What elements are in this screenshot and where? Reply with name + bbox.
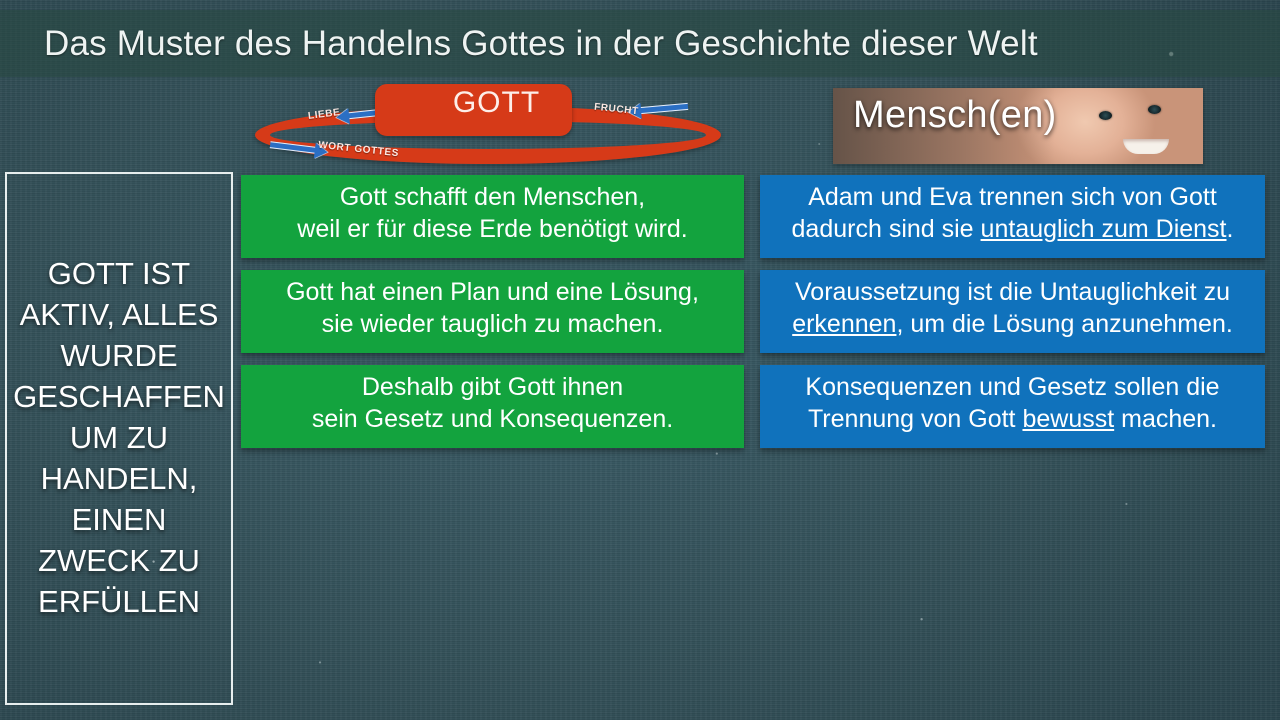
green-card-1-line-1: Gott schafft den Menschen, <box>251 181 734 213</box>
blue-card-1-emphasis: untauglich zum Dienst <box>981 215 1227 243</box>
left-statement-text: GOTT IST AKTIV, ALLES WURDE GESCHAFFEN U… <box>13 254 225 622</box>
slide-title-bar: Das Muster des Handelns Gottes in der Ge… <box>0 10 1280 77</box>
blue-card-3-line-2: Trennung von Gott bewusst machen. <box>770 403 1255 435</box>
blue-card-3-line-2-pre: Trennung von Gott <box>808 405 1022 433</box>
photo-smile <box>1123 139 1169 154</box>
frucht-arrow-icon <box>640 103 688 114</box>
blue-card-2-line-2-post: , um die Lösung anzunehmen. <box>896 310 1232 338</box>
blue-message-column: Adam und Eva trennen sich von Gott dadur… <box>760 175 1265 448</box>
blue-card-3: Konsequenzen und Gesetz sollen die Trenn… <box>760 365 1265 448</box>
photo-eye-left <box>1099 111 1112 120</box>
green-card-3-line-2: sein Gesetz und Konsequenzen. <box>251 403 734 435</box>
green-card-2-line-1: Gott hat einen Plan und eine Lösung, <box>251 276 734 308</box>
people-photo-banner: Mensch(en) <box>833 88 1203 164</box>
gott-cycle-diagram: LIEBE FRUCHT WORT GOTTES GOTT <box>250 84 730 170</box>
blue-card-1-line-1: Adam und Eva trennen sich von Gott <box>770 181 1255 213</box>
blue-card-1: Adam und Eva trennen sich von Gott dadur… <box>760 175 1265 258</box>
blue-card-2-line-1: Voraussetzung ist die Untauglichkeit zu <box>770 276 1255 308</box>
green-card-1-line-2: weil er für diese Erde benötigt wird. <box>251 213 734 245</box>
blue-card-2: Voraussetzung ist die Untauglichkeit zu … <box>760 270 1265 353</box>
blue-card-3-line-2-post: machen. <box>1114 405 1217 433</box>
blue-card-3-line-1: Konsequenzen und Gesetz sollen die <box>770 371 1255 403</box>
green-card-2-line-2: sie wieder tauglich zu machen. <box>251 308 734 340</box>
green-card-3-line-1: Deshalb gibt Gott ihnen <box>251 371 734 403</box>
page-title: Das Muster des Handelns Gottes in der Ge… <box>44 24 1038 64</box>
green-message-column: Gott schafft den Menschen, weil er für d… <box>241 175 744 448</box>
green-card-1: Gott schafft den Menschen, weil er für d… <box>241 175 744 258</box>
left-statement-panel: GOTT IST AKTIV, ALLES WURDE GESCHAFFEN U… <box>5 172 233 705</box>
blue-card-2-emphasis: erkennen <box>792 310 896 338</box>
green-card-3: Deshalb gibt Gott ihnen sein Gesetz und … <box>241 365 744 448</box>
presentation-slide: Das Muster des Handelns Gottes in der Ge… <box>0 0 1280 720</box>
people-banner-label: Mensch(en) <box>853 94 1057 137</box>
blue-card-1-line-2-post: . <box>1227 215 1234 243</box>
blue-card-1-line-2-pre: dadurch sind sie <box>792 215 981 243</box>
photo-eye-right <box>1148 105 1161 114</box>
green-card-2: Gott hat einen Plan und eine Lösung, sie… <box>241 270 744 353</box>
gott-center-label: GOTT <box>375 86 572 120</box>
blue-card-3-emphasis: bewusst <box>1022 405 1114 433</box>
blue-card-2-line-2: erkennen, um die Lösung anzunehmen. <box>770 308 1255 340</box>
blue-card-1-line-2: dadurch sind sie untauglich zum Dienst. <box>770 213 1255 245</box>
gott-center-box: GOTT <box>375 84 572 136</box>
